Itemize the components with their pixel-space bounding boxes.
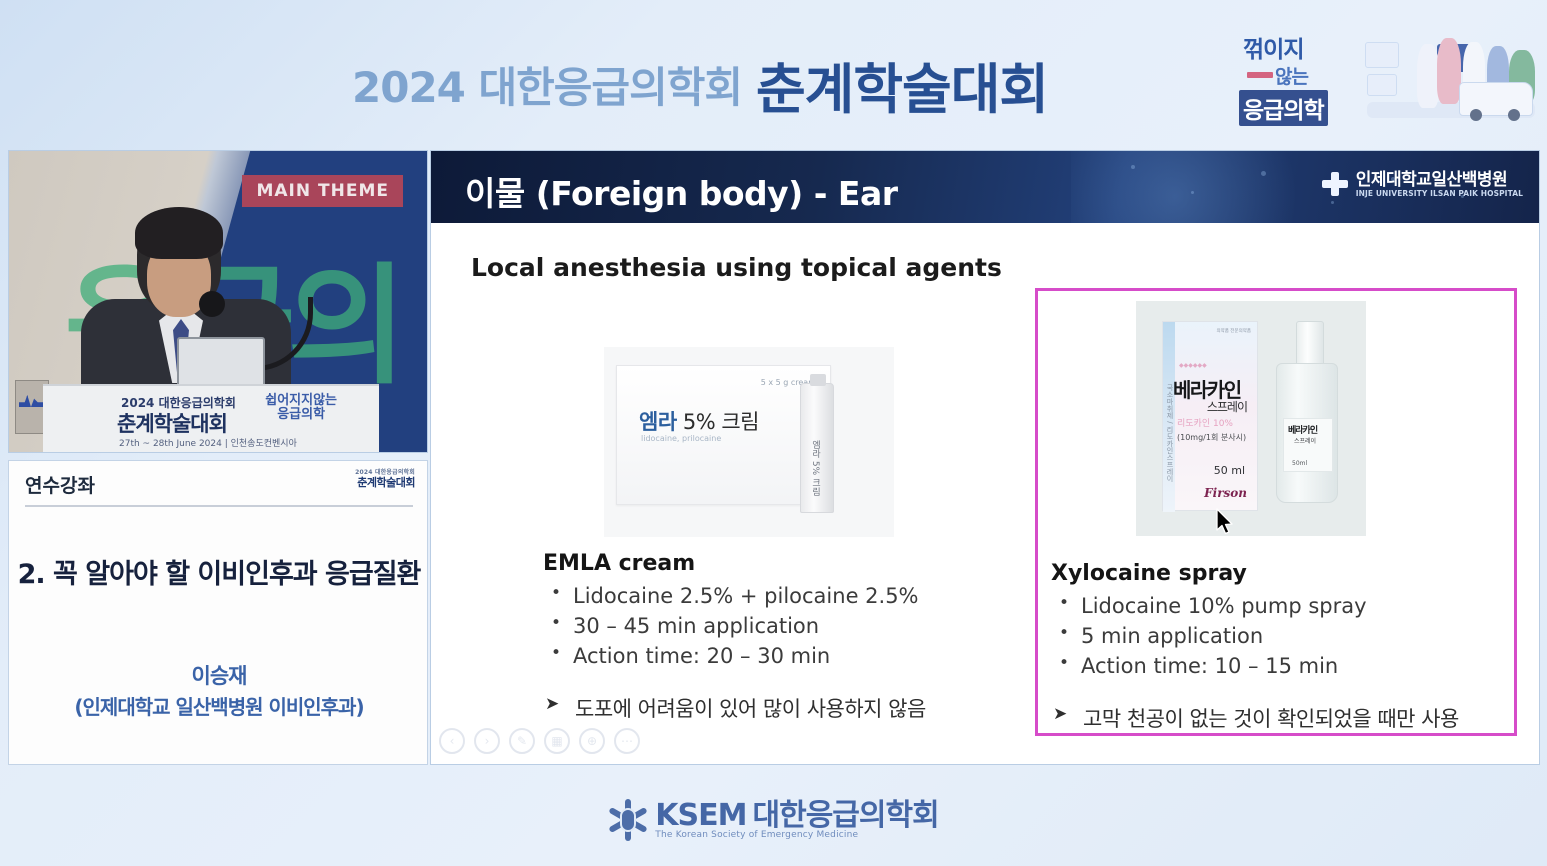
xylocaine-box-pink-text: ◆◆◆◆◆◆: [1179, 362, 1207, 369]
xylocaine-box-subname: 스프레이: [1207, 398, 1247, 415]
xylocaine-bullet-list: Lidocaine 10% pump spray 5 min applicati…: [1051, 592, 1521, 681]
xylocaine-box-dose: (10mg/1회 분사시): [1177, 432, 1246, 443]
xylocaine-box-ingredient: 리도카인 10%: [1177, 416, 1233, 429]
xylocaine-bottle: 베라카인 스프레이 50ml: [1276, 363, 1338, 503]
lecture-title: 2. 꼭 알아야 할 이비인후과 응급질환: [9, 557, 429, 593]
xylocaine-box-volume: 50 ml: [1214, 464, 1245, 477]
presenter-affiliation: (인제대학교 일산백병원 이비인후과): [9, 691, 429, 720]
emla-product-photo: 5 x 5 g cream 엠라 5% 크림 lidocaine, priloc…: [604, 347, 894, 537]
list-item: 5 min application: [1051, 622, 1521, 652]
campaign-dash-icon: [1247, 72, 1273, 78]
emla-box-label-kr2: 크림: [721, 410, 759, 434]
conference-title-light: 2024 대한응급의학회: [352, 63, 742, 112]
emla-box-label-kr: 엠라: [639, 410, 677, 434]
campaign-line-1: 꺾이지: [1243, 30, 1303, 64]
ecg-waveform-icon: [19, 395, 45, 407]
podium-campaign-logo: 쉽어지지않는 응급의학: [265, 394, 337, 423]
ksem-logo-text: KSEM대한응급의학회 The Korean Society of Emerge…: [655, 800, 938, 841]
campaign-line-2: 않는: [1275, 62, 1308, 89]
emla-bullet-list: Lidocaine 2.5% + pilocaine 2.5% 30 – 45 …: [543, 582, 963, 671]
title-slide-divider: [25, 505, 413, 507]
rod-of-asclepius-icon: [620, 808, 636, 832]
pen-icon[interactable]: ✎: [509, 728, 535, 754]
campaign-logo: 꺾이지 않는 응급의학: [1239, 22, 1539, 134]
main-theme-badge: MAIN THEME: [242, 175, 403, 207]
illustration-ambulance: [1459, 82, 1533, 116]
emla-box-label: 엠라 5% 크림: [639, 406, 759, 436]
presentation-slide[interactable]: 이물 (Foreign body) - Ear 인제대학교일산백병원 INJE …: [430, 150, 1540, 765]
xylocaine-heading: Xylocaine spray: [1051, 561, 1521, 586]
emla-text-block: EMLA cream Lidocaine 2.5% + pilocaine 2.…: [543, 551, 963, 723]
illustration-panel-2: [1367, 74, 1397, 96]
emla-tube-label: 엠라 5% 크림: [809, 440, 822, 496]
emla-note: 도포에 어려움이 있어 많이 사용하지 않음: [543, 693, 963, 723]
illustration-panel-1: [1365, 42, 1399, 68]
star-of-life-icon: [608, 800, 648, 840]
conference-title-bold: 춘계학술대회: [756, 58, 1048, 121]
conference-title: 2024 대한응급의학회춘계학술대회: [352, 45, 1048, 124]
presenter-name: 이승재: [9, 661, 429, 693]
xylocaine-bottle-name: 베라카인: [1288, 423, 1317, 436]
emla-tube: 엠라 5% 크림: [800, 383, 834, 513]
ksem-logo-kr: 대한응급의학회: [753, 798, 939, 833]
mouse-cursor: [1215, 508, 1235, 536]
xylocaine-text-block: Xylocaine spray Lidocaine 10% pump spray…: [1051, 561, 1521, 733]
more-options-icon[interactable]: ⋯: [614, 728, 640, 754]
campaign-words: 꺾이지 않는 응급의학: [1239, 28, 1359, 128]
xylocaine-bottle-volume: 50ml: [1292, 460, 1307, 467]
xylocaine-box-top-text: 의약품 전문의약품: [1216, 329, 1251, 336]
emla-box-sublabel: lidocaine, prilocaine: [641, 434, 721, 443]
xylocaine-box-brand: Firson: [1204, 486, 1247, 500]
emla-heading: EMLA cream: [543, 551, 963, 576]
next-arrow-icon[interactable]: ›: [474, 728, 500, 754]
presenter-toolbar[interactable]: ‹ › ✎ ▦ ⊕ ⋯: [439, 728, 640, 754]
title-slide-conference-logo: 2024 대한응급의학회 춘계학술대회: [355, 470, 415, 490]
slide-grid-icon[interactable]: ▦: [544, 728, 570, 754]
illustration-person-1: [1417, 44, 1439, 108]
hospital-name-korean: 인제대학교일산백병원: [1356, 171, 1523, 190]
podium-line-2: 춘계학술대회: [117, 408, 227, 438]
campaign-line-3: 응급의학: [1239, 90, 1328, 126]
hospital-name-english: INJE UNIVERSITY ILSAN PAIK HOSPITAL: [1356, 190, 1523, 198]
xylocaine-note: 고막 천공이 없는 것이 확인되었을 때만 사용: [1051, 703, 1521, 733]
speaker-video[interactable]: 응급의 MAIN THEME 2024 대한응급의학회 춘계학술대회 27th …: [8, 150, 428, 453]
lecture-type-label: 연수강좌: [25, 471, 95, 498]
emla-box: 5 x 5 g cream 엠라 5% 크림 lidocaine, priloc…: [616, 365, 831, 505]
zoom-icon[interactable]: ⊕: [579, 728, 605, 754]
podium-logo-line-2: 응급의학: [265, 408, 337, 422]
xylocaine-bottle-cap: [1296, 321, 1324, 367]
list-item: Lidocaine 2.5% + pilocaine 2.5%: [543, 582, 963, 612]
ksem-logo-main: KSEM대한응급의학회: [655, 800, 938, 832]
list-item: Action time: 20 – 30 min: [543, 642, 963, 672]
hospital-logo-text: 인제대학교일산백병원 INJE UNIVERSITY ILSAN PAIK HO…: [1356, 171, 1523, 198]
list-item: Action time: 10 – 15 min: [1051, 652, 1521, 682]
laptop: [177, 337, 265, 389]
podium-line-3: 27th ~ 28th June 2024 | 인천송도컨벤시아: [119, 436, 297, 449]
title-slide-logo-big: 춘계학술대회: [355, 477, 415, 490]
speaker-hair: [135, 207, 223, 259]
medical-cross-icon: [1322, 172, 1348, 196]
ksem-logo-en: KSEM: [655, 798, 746, 833]
slide-title-bar: 이물 (Foreign body) - Ear 인제대학교일산백병원 INJE …: [431, 151, 1540, 223]
podium-signage: 2024 대한응급의학회 춘계학술대회 27th ~ 28th June 202…: [43, 384, 379, 452]
slide-subtitle: Local anesthesia using topical agents: [471, 253, 1002, 282]
campaign-illustration: [1359, 28, 1539, 128]
lecture-title-slide[interactable]: 연수강좌 2024 대한응급의학회 춘계학술대회 2. 꼭 알아야 할 이비인후…: [8, 460, 428, 765]
illustration-person-2: [1437, 38, 1461, 104]
prev-arrow-icon[interactable]: ‹: [439, 728, 465, 754]
slide-title: 이물 (Foreign body) - Ear: [465, 167, 898, 215]
list-item: 30 – 45 min application: [543, 612, 963, 642]
microphone-head-icon: [199, 291, 225, 317]
list-item: Lidocaine 10% pump spray: [1051, 592, 1521, 622]
title-slide-header: 연수강좌 2024 대한응급의학회 춘계학술대회: [9, 461, 429, 505]
hospital-logo: 인제대학교일산백병원 INJE UNIVERSITY ILSAN PAIK HO…: [1322, 171, 1523, 198]
emla-box-label-pct: 5%: [683, 410, 715, 434]
ksem-logo: KSEM대한응급의학회 The Korean Society of Emerge…: [608, 800, 938, 841]
page-footer: KSEM대한응급의학회 The Korean Society of Emerge…: [0, 774, 1547, 866]
xylocaine-bottle-label: 베라카인 스프레이 50ml: [1283, 418, 1333, 472]
xylocaine-product-photo: 국소마취제 / 리도카인스프레이 의약품 전문의약품 ◆◆◆◆◆◆ 베라카인 스…: [1136, 301, 1366, 536]
top-banner: 2024 대한응급의학회춘계학술대회 꺾이지 않는 응급의학: [0, 0, 1547, 140]
xylocaine-bottle-subname: 스프레이: [1294, 436, 1316, 445]
xylocaine-box: 국소마취제 / 리도카인스프레이 의약품 전문의약품 ◆◆◆◆◆◆ 베라카인 스…: [1162, 321, 1258, 511]
